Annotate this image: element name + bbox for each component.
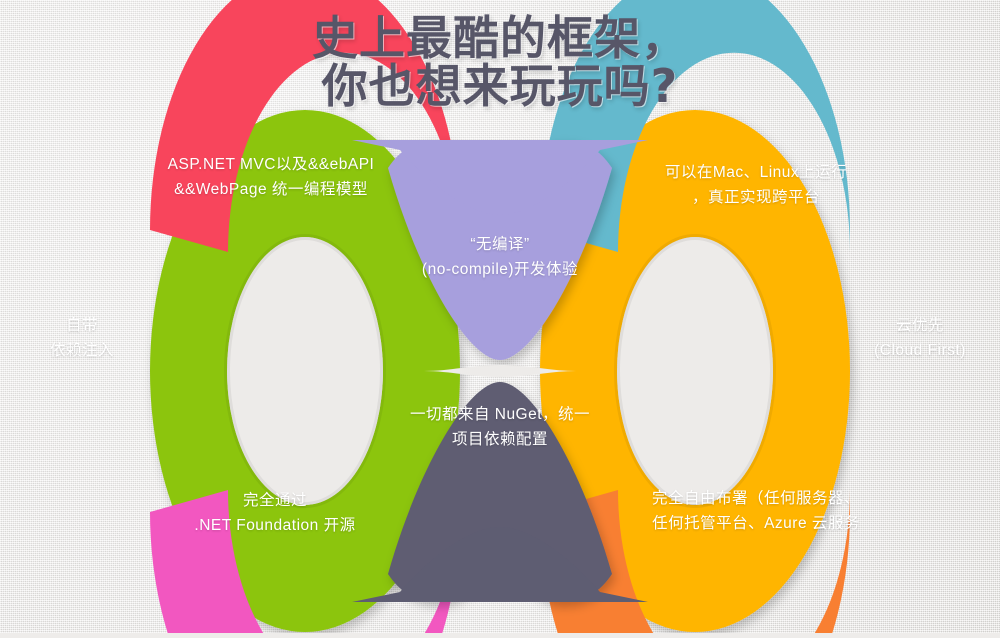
title-line-2: 你也想来玩玩吗? [0,62,1000,110]
page-title: 史上最酷的框架， 你也想来玩玩吗? [0,14,1000,110]
title-line-1: 史上最酷的框架， [0,14,1000,62]
